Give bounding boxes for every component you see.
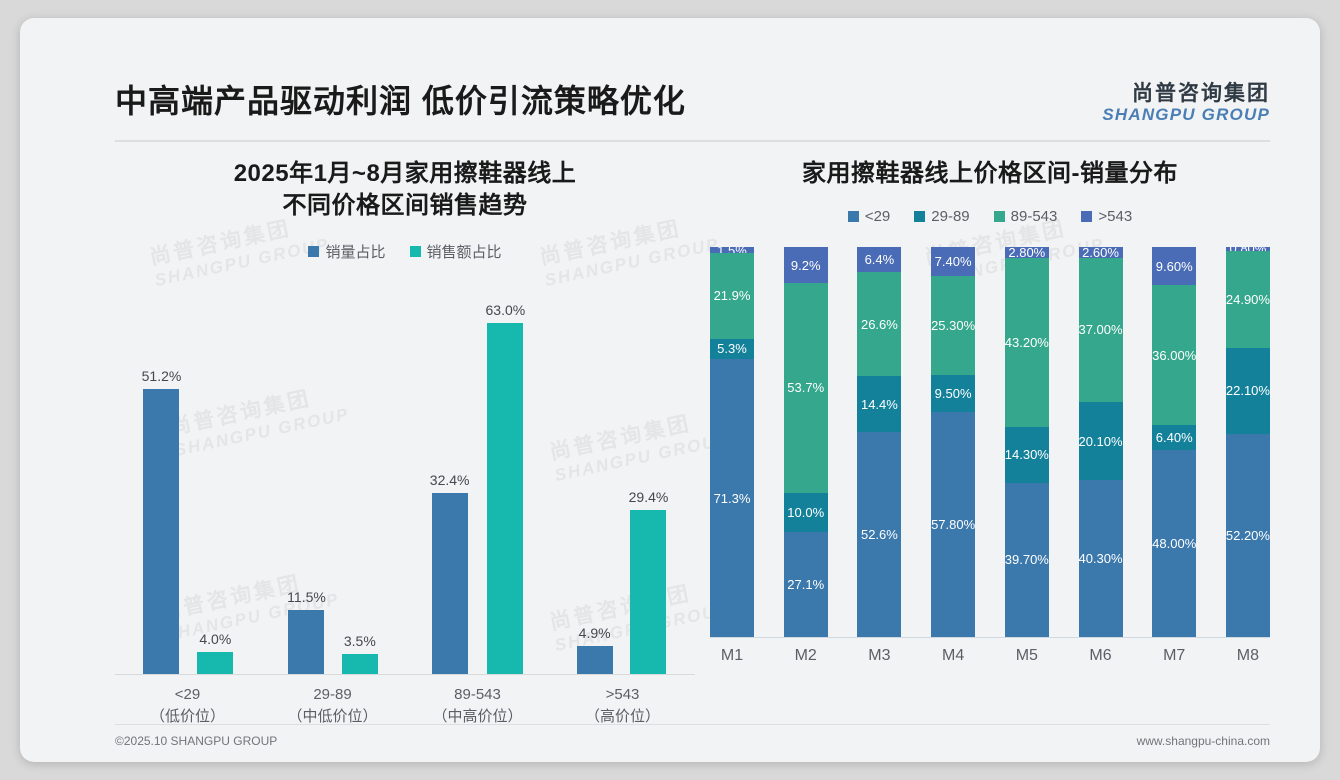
stack-segment->543-M6: 2.60% (1079, 247, 1123, 257)
stacked-bar-M7[interactable]: 9.60%36.00%6.40%48.00% (1152, 247, 1196, 637)
x-tick-M7: M7 (1152, 647, 1196, 665)
bar-value-label: 32.4% (430, 472, 470, 488)
logo-text-en: SHANGPU GROUP (1102, 105, 1270, 125)
stack-segment-89-543-M6: 37.00% (1079, 258, 1123, 402)
stack-segment-label: 53.7% (787, 380, 824, 395)
stack-segment-label: 71.3% (714, 491, 751, 506)
bar-group-89-543: 32.4%63.0% (405, 284, 550, 674)
legend-label: >543 (1098, 208, 1132, 225)
stack-segment-label: 36.00% (1152, 348, 1196, 363)
bar-rect (577, 646, 613, 673)
stack-segment-label: 57.80% (931, 517, 975, 532)
legend-swatch-icon (994, 211, 1005, 222)
x-tick-M3: M3 (857, 647, 901, 665)
stack-segment-29-89-M8: 22.10% (1226, 348, 1270, 434)
stack-segment-label: 40.30% (1079, 551, 1123, 566)
stack-segment-label: 14.4% (861, 397, 898, 412)
stacked-bar-M4[interactable]: 7.40%25.30%9.50%57.80% (931, 247, 975, 637)
bar-销售额占比->543[interactable]: 29.4% (629, 284, 669, 674)
x-tick-M8: M8 (1226, 647, 1270, 665)
bar-销量占比-89-543[interactable]: 32.4% (430, 284, 470, 674)
bar-销售额占比-29-89[interactable]: 3.5% (342, 284, 378, 674)
stack-segment-label: 26.6% (861, 317, 898, 332)
legend-label: 89-543 (1011, 208, 1058, 225)
x-tick-range: >543 (550, 684, 695, 706)
legend-item-销售额占比[interactable]: 销售额占比 (410, 241, 502, 262)
bar-销售额占比-89-543[interactable]: 63.0% (486, 284, 526, 674)
slide-footer: ©2025.10 SHANGPU GROUP www.shangpu-china… (115, 734, 1270, 748)
logo-text-cn: 尚普咨询集团 (1102, 82, 1270, 105)
left-chart-panel: 2025年1月~8月家用擦鞋器线上 不同价格区间销售趋势 销量占比销售额占比 5… (115, 158, 695, 718)
stack-segment-29-89-M3: 14.4% (857, 376, 901, 432)
right-chart-title: 家用擦鞋器线上价格区间-销量分布 (710, 158, 1270, 190)
stack-segment-29-89-M6: 20.10% (1079, 402, 1123, 480)
stack-segment-label: 9.60% (1156, 259, 1193, 274)
x-tick-range: 29-89 (260, 684, 405, 706)
bar-value-label: 29.4% (629, 489, 669, 505)
bar-value-label: 51.2% (142, 368, 182, 384)
bar-销售额占比-<29[interactable]: 4.0% (197, 284, 233, 674)
stack-segment-89-543-M4: 25.30% (931, 276, 975, 375)
stacked-bar-M6[interactable]: 2.60%37.00%20.10%40.30% (1079, 247, 1123, 637)
company-logo: 尚普咨询集团 SHANGPU GROUP (1102, 82, 1270, 125)
x-tick-M5: M5 (1005, 647, 1049, 665)
legend-label: <29 (865, 208, 890, 225)
stacked-bar-M2[interactable]: 9.2%53.7%10.0%27.1% (784, 247, 828, 637)
stack-segment-29-89-M7: 6.40% (1152, 425, 1196, 450)
legend-item->543[interactable]: >543 (1081, 208, 1132, 225)
bar-rect (288, 610, 324, 674)
stack-segment-<29-M6: 40.30% (1079, 480, 1123, 637)
x-tick-M6: M6 (1079, 647, 1123, 665)
legend-swatch-icon (848, 211, 859, 222)
x-tick-M4: M4 (931, 647, 975, 665)
legend-item-29-89[interactable]: 29-89 (914, 208, 969, 225)
stack-segment-label: 37.00% (1079, 322, 1123, 337)
stack-segment-label: 25.30% (931, 318, 975, 333)
stack-segment-89-543-M5: 43.20% (1005, 258, 1049, 426)
x-tick-<29: <29（低价位） (115, 684, 260, 728)
left-chart-title-line2: 不同价格区间销售趋势 (115, 190, 695, 222)
stack-segment-label: 52.20% (1226, 528, 1270, 543)
slide-canvas: 尚普咨询集团 SHANGPU GROUP 尚普咨询集团 SHANGPU GROU… (20, 18, 1320, 762)
stack-segment-label: 22.10% (1226, 383, 1270, 398)
bar-value-label: 11.5% (287, 589, 326, 605)
legend-label: 销量占比 (325, 241, 385, 262)
stacked-bar-plot: 1.5%21.9%5.3%71.3%9.2%53.7%10.0%27.1%6.4… (710, 247, 1270, 638)
stack-segment-label: 10.0% (787, 505, 824, 520)
stack-segment-label: 5.3% (717, 341, 747, 356)
stack-segment-label: 14.30% (1005, 447, 1049, 462)
bar-rect (432, 493, 468, 674)
stack-segment-29-89-M5: 14.30% (1005, 427, 1049, 483)
bar-rect (342, 654, 378, 674)
bar-value-label: 63.0% (486, 302, 526, 318)
x-tick-range: <29 (115, 684, 260, 706)
stack-segment->543-M5: 2.80% (1005, 247, 1049, 258)
grouped-bar-plot: 51.2%4.0%11.5%3.5%32.4%63.0%4.9%29.4% (115, 284, 695, 675)
bar-销量占比-<29[interactable]: 51.2% (142, 284, 182, 674)
header-divider (115, 140, 1270, 142)
stack-segment-label: 20.10% (1079, 434, 1123, 449)
stack-segment-label: 6.40% (1156, 430, 1193, 445)
stack-segment-<29-M3: 52.6% (857, 432, 901, 637)
stack-segment-29-89-M2: 10.0% (784, 493, 828, 532)
x-tick-29-89: 29-89（中低价位） (260, 684, 405, 728)
footer-website: www.shangpu-china.com (1137, 734, 1270, 748)
stack-segment-label: 27.1% (787, 577, 824, 592)
stack-segment-89-543-M7: 36.00% (1152, 285, 1196, 425)
x-tick-range: 89-543 (405, 684, 550, 706)
stack-segment-label: 21.9% (714, 288, 751, 303)
stack-segment-<29-M1: 71.3% (710, 359, 754, 637)
legend-swatch-icon (410, 246, 421, 257)
stack-segment-label: 39.70% (1005, 552, 1049, 567)
left-chart-title: 2025年1月~8月家用擦鞋器线上 不同价格区间销售趋势 (115, 158, 695, 223)
stack-segment-89-543-M3: 26.6% (857, 272, 901, 376)
stack-segment-label: 52.6% (861, 527, 898, 542)
stack-segment-label: 48.00% (1152, 536, 1196, 551)
stack-segment->543-M7: 9.60% (1152, 247, 1196, 284)
stack-segment-label: 2.60% (1082, 247, 1119, 257)
slide-header: 中高端产品驱动利润 低价引流策略优化 尚普咨询集团 SHANGPU GROUP (115, 76, 1270, 138)
stack-segment-<29-M2: 27.1% (784, 532, 828, 638)
x-tick->543: >543（高价位） (550, 684, 695, 728)
x-tick-M2: M2 (784, 647, 828, 665)
bar-value-label: 4.9% (579, 625, 611, 641)
right-chart-panel: 家用擦鞋器线上价格区间-销量分布 <2929-8989-543>543 1.5%… (710, 158, 1270, 718)
stack-segment->543-M4: 7.40% (931, 247, 975, 276)
page-title: 中高端产品驱动利润 低价引流策略优化 (115, 76, 686, 122)
stacked-bar-M8[interactable]: 0.80%24.90%22.10%52.20% (1226, 247, 1270, 637)
stacked-bar-M3[interactable]: 6.4%26.6%14.4%52.6% (857, 247, 901, 637)
stack-segment-label: 24.90% (1226, 292, 1270, 307)
x-tick-89-543: 89-543（中高价位） (405, 684, 550, 728)
x-tick-M1: M1 (710, 647, 754, 665)
legend-label: 销售额占比 (427, 241, 502, 262)
stack-segment-label: 9.2% (791, 258, 821, 273)
stack-segment-29-89-M4: 9.50% (931, 375, 975, 412)
footer-copyright: ©2025.10 SHANGPU GROUP (115, 734, 277, 748)
bar-group-29-89: 11.5%3.5% (260, 284, 405, 674)
bar-销量占比->543[interactable]: 4.9% (577, 284, 613, 674)
stack-segment->543-M2: 9.2% (784, 247, 828, 283)
stack-segment-<29-M5: 39.70% (1005, 483, 1049, 638)
stack-segment->543-M3: 6.4% (857, 247, 901, 272)
bar-value-label: 3.5% (344, 633, 376, 649)
stack-segment-label: 6.4% (865, 252, 895, 267)
stacked-bar-M1[interactable]: 1.5%21.9%5.3%71.3% (710, 247, 754, 637)
bar-rect (197, 652, 233, 674)
stack-segment-label: 7.40% (935, 254, 972, 269)
legend-item-89-543[interactable]: 89-543 (994, 208, 1058, 225)
bar-group-<29: 51.2%4.0% (115, 284, 260, 674)
right-chart-x-axis: M1M2M3M4M5M6M7M8 (710, 647, 1270, 665)
bar-value-label: 4.0% (199, 631, 231, 647)
bar-销量占比-29-89[interactable]: 11.5% (287, 284, 326, 674)
legend-label: 29-89 (931, 208, 969, 225)
bar-rect (630, 510, 666, 674)
bar-rect (143, 389, 179, 674)
right-chart-legend: <2929-8989-543>543 (710, 208, 1270, 225)
stack-segment-label: 9.50% (935, 386, 972, 401)
stack-segment-<29-M8: 52.20% (1226, 434, 1270, 638)
legend-item-销量占比[interactable]: 销量占比 (308, 241, 385, 262)
legend-item-<29[interactable]: <29 (848, 208, 890, 225)
stack-segment-89-543-M8: 24.90% (1226, 251, 1270, 348)
legend-swatch-icon (308, 246, 319, 257)
stack-segment-<29-M4: 57.80% (931, 412, 975, 637)
left-chart-x-axis: <29（低价位）29-89（中低价位）89-543（中高价位）>543（高价位） (115, 684, 695, 728)
footer-divider (115, 724, 1270, 725)
legend-swatch-icon (1081, 211, 1092, 222)
stack-segment-<29-M7: 48.00% (1152, 450, 1196, 637)
stack-segment-89-543-M2: 53.7% (784, 283, 828, 492)
left-chart-title-line1: 2025年1月~8月家用擦鞋器线上 (115, 158, 695, 190)
stack-segment-89-543-M1: 21.9% (710, 253, 754, 338)
stack-segment-29-89-M1: 5.3% (710, 339, 754, 360)
bar-rect (487, 323, 523, 674)
left-chart-legend: 销量占比销售额占比 (115, 241, 695, 262)
stacked-bar-M5[interactable]: 2.80%43.20%14.30%39.70% (1005, 247, 1049, 637)
bar-group->543: 4.9%29.4% (550, 284, 695, 674)
stack-segment-label: 43.20% (1005, 335, 1049, 350)
stack-segment-label: 2.80% (1008, 247, 1045, 258)
legend-swatch-icon (914, 211, 925, 222)
